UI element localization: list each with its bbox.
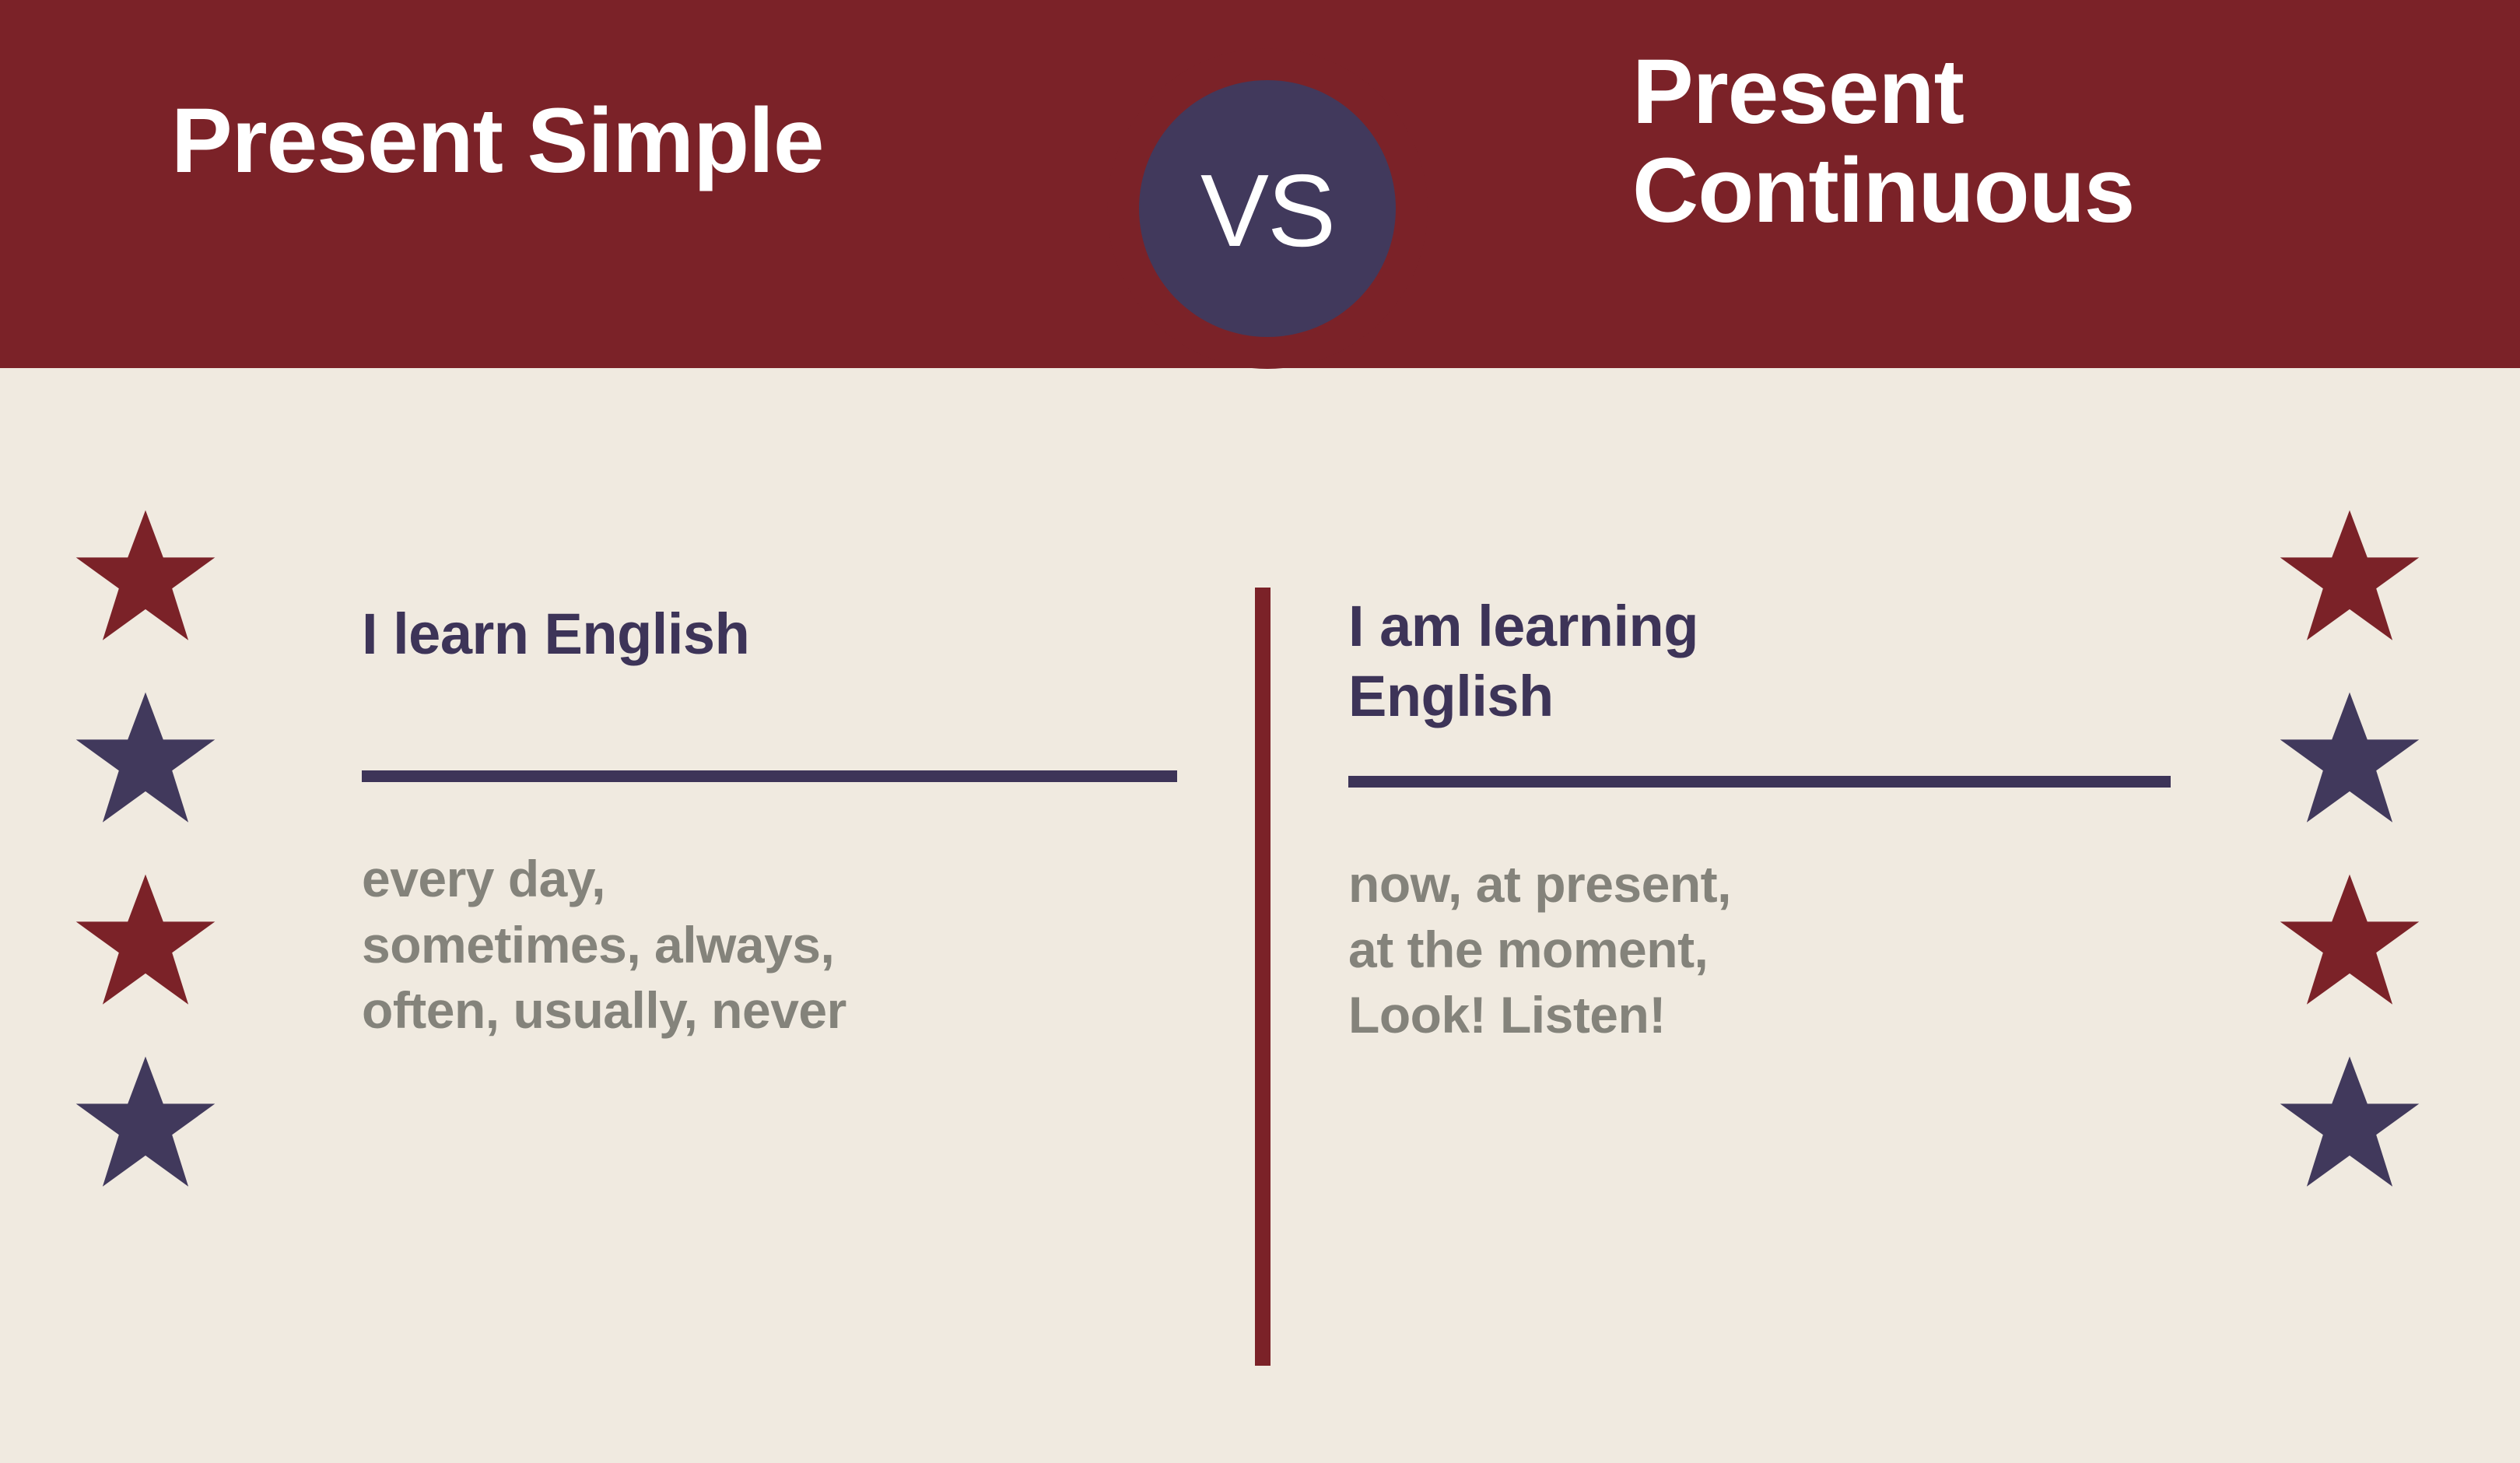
column-heading-present-continuous: I am learning English xyxy=(1348,591,1877,732)
vs-badge: VS xyxy=(1139,80,1396,337)
page-title-present-simple: Present Simple xyxy=(171,93,1167,189)
column-rule-present-simple xyxy=(362,770,1177,782)
column-rule-present-continuous xyxy=(1348,776,2171,788)
star-icon xyxy=(2276,868,2424,1016)
star-icon xyxy=(72,1051,219,1198)
vertical-divider xyxy=(1255,588,1271,1366)
star-icon xyxy=(72,686,219,834)
keyword-line: every day, xyxy=(362,846,1186,911)
column-keywords-present-simple: every day, sometimes, always, often, usu… xyxy=(362,846,1186,1043)
page-title-present-continuous-line1: Present xyxy=(1632,43,2488,142)
column-keywords-present-continuous: now, at present, at the moment, Look! Li… xyxy=(1348,851,2173,1048)
keyword-line: now, at present, xyxy=(1348,851,2173,917)
keyword-line: at the moment, xyxy=(1348,917,2173,982)
keyword-line: sometimes, always, xyxy=(362,912,1186,977)
star-icon xyxy=(72,868,219,1016)
column-heading-present-simple: I learn English xyxy=(362,599,1186,669)
star-icon xyxy=(2276,504,2424,652)
keyword-line: Look! Listen! xyxy=(1348,982,2173,1047)
page-title-present-continuous-line2: Continuous xyxy=(1632,142,2488,240)
star-icon xyxy=(72,504,219,652)
column-present-continuous: I am learning English now, at present, a… xyxy=(1348,591,2173,1048)
star-column-left xyxy=(72,504,227,1233)
column-present-simple: I learn English every day, sometimes, al… xyxy=(362,599,1186,1044)
vs-badge-label: VS xyxy=(1200,160,1334,262)
star-icon xyxy=(2276,686,2424,834)
star-column-right xyxy=(2276,504,2431,1233)
star-icon xyxy=(2276,1051,2424,1198)
keyword-line: often, usually, never xyxy=(362,977,1186,1043)
page-title-present-continuous: Present Continuous xyxy=(1632,43,2488,241)
